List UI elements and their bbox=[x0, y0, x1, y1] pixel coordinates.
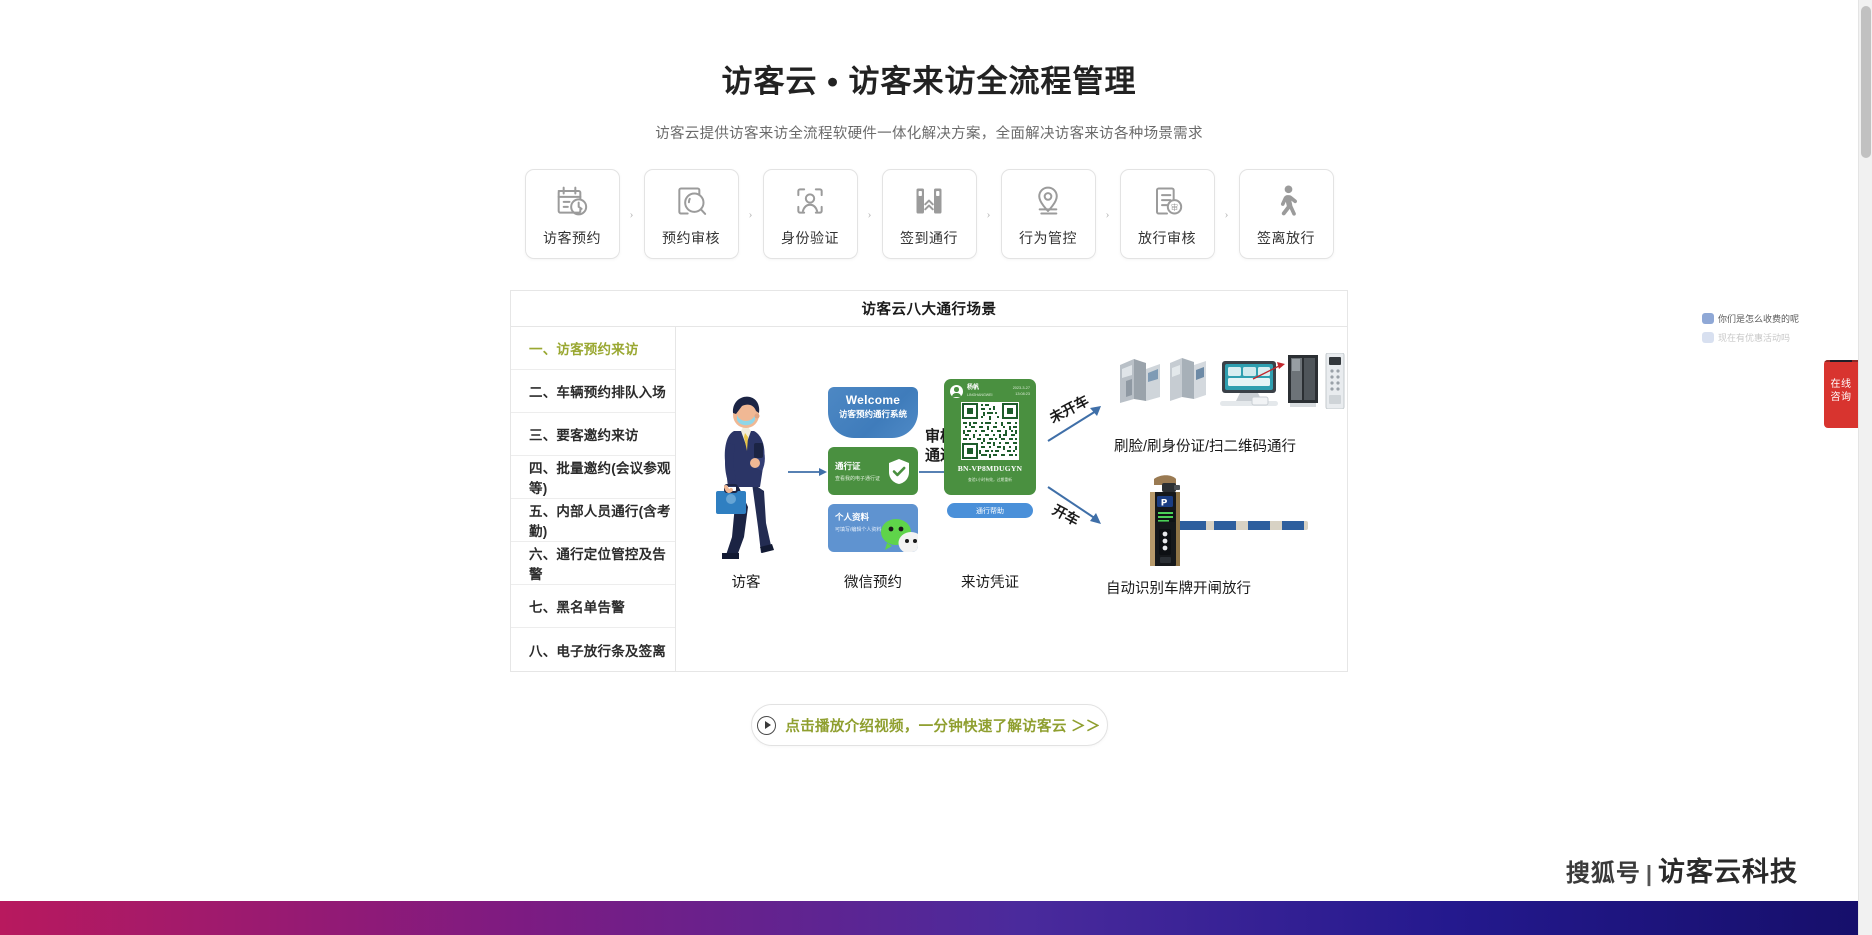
chat-bubble-2-text: 现在有优惠活动吗 bbox=[1718, 331, 1790, 344]
panel-body: 一、访客预约来访 二、车辆预约排队入场 三、要客邀约来访 四、批量邀约(会议参观… bbox=[511, 327, 1347, 671]
process-step-strip: 访客预约 › 预约审核 › 身份验 bbox=[0, 169, 1858, 259]
svg-text:P: P bbox=[1161, 499, 1168, 509]
walking-person-icon bbox=[1266, 181, 1306, 221]
bottom-gradient-bar bbox=[0, 901, 1858, 935]
play-icon bbox=[757, 716, 776, 735]
chat-bubbles: 你们是怎么收费的呢 现在有优惠活动吗 bbox=[1702, 312, 1832, 350]
scene-item-7[interactable]: 七、黑名单告警 bbox=[511, 585, 675, 628]
qr-time: 13:08:23 bbox=[1013, 391, 1030, 397]
step-label: 放行审核 bbox=[1138, 228, 1196, 248]
chat-bubble-icon bbox=[1702, 332, 1714, 343]
step-separator: › bbox=[977, 207, 1001, 222]
turnstile-gate-icon bbox=[909, 181, 949, 221]
credential-caption: 来访凭证 bbox=[940, 571, 1040, 592]
barrier-caption: 自动识别车牌开闸放行 bbox=[1106, 577, 1251, 598]
consult-line-1: 在线 bbox=[1824, 378, 1858, 391]
step-label: 行为管控 bbox=[1019, 228, 1077, 248]
chat-bubble-1-text: 你们是怎么收费的呢 bbox=[1718, 312, 1799, 325]
arrow-visitor-to-wechat bbox=[788, 467, 828, 477]
panel-title: 访客云八大通行场景 bbox=[511, 291, 1347, 327]
magnifier-review-icon bbox=[671, 181, 711, 221]
step-card-behavior-control[interactable]: 行为管控 bbox=[1001, 169, 1096, 259]
wechat-logo-icon bbox=[879, 516, 918, 552]
scene-item-6[interactable]: 六、通行定位管控及告警 bbox=[511, 542, 675, 585]
step-separator: › bbox=[739, 207, 763, 222]
watermark-name: 访客云科技 bbox=[1658, 850, 1798, 889]
visitor-illustration bbox=[704, 387, 788, 563]
step-card-release-review[interactable]: 审 放行审核 bbox=[1120, 169, 1215, 259]
visitor-caption: 访客 bbox=[696, 571, 796, 592]
chat-bubble-1[interactable]: 你们是怎么收费的呢 bbox=[1702, 312, 1832, 325]
scene-item-4[interactable]: 四、批量邀约(会议参观等) bbox=[511, 456, 675, 499]
page-scrollbar[interactable] bbox=[1858, 0, 1872, 935]
video-cta-wrap: 点击播放介绍视频，一分钟快速了解访客云 ＞＞ bbox=[0, 704, 1858, 746]
scene-item-3[interactable]: 三、要客邀约来访 bbox=[511, 413, 675, 456]
watermark-prefix: 搜狐号 bbox=[1566, 853, 1641, 888]
pointer-line bbox=[1251, 361, 1287, 386]
elevator-panel-device-icon bbox=[1324, 353, 1346, 414]
chat-bubble-icon bbox=[1702, 313, 1714, 324]
pass-subtitle: 查看我的电子通行证 bbox=[835, 475, 880, 482]
play-intro-video-button[interactable]: 点击播放介绍视频，一分钟快速了解访客云 ＞＞ bbox=[751, 704, 1108, 746]
qr-pass-tip: 查验1小时有效，过期重新 bbox=[950, 478, 1030, 483]
step-label: 签离放行 bbox=[1257, 228, 1315, 248]
avatar bbox=[950, 385, 963, 398]
turnstile-device-2-icon bbox=[1168, 351, 1210, 414]
scenes-panel: 访客云八大通行场景 一、访客预约来访 二、车辆预约排队入场 三、要客邀约来访 四… bbox=[510, 290, 1348, 672]
pass-title: 通行证 bbox=[835, 460, 880, 472]
arrow-branch-car bbox=[1046, 481, 1108, 534]
qr-pass-code: BN-VP8MDUGYN bbox=[950, 464, 1030, 473]
scene-item-8[interactable]: 八、电子放行条及签离 bbox=[511, 628, 675, 671]
welcome-cn: 访客预约通行系统 bbox=[828, 408, 918, 420]
chat-bubble-2[interactable]: 现在有优惠活动吗 bbox=[1702, 331, 1832, 344]
document-stamp-icon: 审 bbox=[1147, 181, 1187, 221]
page-title: 访客云 • 访客来访全流程管理 bbox=[0, 56, 1858, 101]
step-separator: › bbox=[1215, 207, 1239, 222]
step-card-checkin-pass[interactable]: 签到通行 bbox=[882, 169, 977, 259]
step-card-identity-verify[interactable]: 身份验证 bbox=[763, 169, 858, 259]
qr-code-image bbox=[961, 402, 1019, 460]
welcome-en: Welcome bbox=[828, 393, 918, 407]
step-card-signout-release[interactable]: 签离放行 bbox=[1239, 169, 1334, 259]
step-label: 身份验证 bbox=[781, 228, 839, 248]
visitor-qr-pass-card: 杨帆 LINGHANGWEI 2023-3-27 13:08:23 bbox=[944, 379, 1036, 495]
scene-item-1[interactable]: 一、访客预约来访 bbox=[511, 327, 675, 370]
scene-list: 一、访客预约来访 二、车辆预约排队入场 三、要客邀约来访 四、批量邀约(会议参观… bbox=[511, 327, 676, 671]
wechat-pass-card: 通行证 查看我的电子通行证 bbox=[828, 447, 918, 495]
consult-line-2: 咨询 bbox=[1824, 391, 1858, 404]
step-card-booking-review[interactable]: 预约审核 bbox=[644, 169, 739, 259]
watermark-separator: | bbox=[1646, 861, 1653, 887]
face-id-frame-icon bbox=[790, 181, 830, 221]
page-root: 访客云 • 访客来访全流程管理 访客云提供访客来访全流程软硬件一体化解决方案，全… bbox=[0, 0, 1858, 935]
step-card-visitor-booking[interactable]: 访客预约 bbox=[525, 169, 620, 259]
page-subtitle: 访客云提供访客来访全流程软硬件一体化解决方案，全面解决访客来访各种场景需求 bbox=[0, 122, 1858, 143]
online-consult-button[interactable]: 在线 咨询 bbox=[1824, 360, 1858, 428]
wechat-welcome-card: Welcome 访客预约通行系统 bbox=[828, 387, 918, 438]
sohu-watermark: 搜狐号 | 访客云科技 bbox=[1566, 850, 1798, 889]
location-pin-icon bbox=[1028, 181, 1068, 221]
step-label: 访客预约 bbox=[543, 228, 601, 248]
license-plate-barrier-device: P bbox=[1128, 465, 1314, 576]
scene-diagram: 访客 Welcome 访客预约通行系统 bbox=[676, 327, 1347, 671]
calendar-clock-icon bbox=[552, 181, 592, 221]
scene-item-5[interactable]: 五、内部人员通行(含考勤) bbox=[511, 499, 675, 542]
elevator-device-icon bbox=[1286, 353, 1320, 414]
svg-text:审: 审 bbox=[1171, 201, 1179, 211]
shield-check-icon bbox=[887, 458, 911, 485]
arrow-branch-no-car bbox=[1046, 401, 1108, 450]
agent-avatar bbox=[1824, 360, 1858, 362]
step-separator: › bbox=[620, 207, 644, 222]
turnstile-device-icon bbox=[1116, 351, 1164, 414]
step-separator: › bbox=[858, 207, 882, 222]
scene-item-2[interactable]: 二、车辆预约排队入场 bbox=[511, 370, 675, 413]
wechat-caption: 微信预约 bbox=[823, 571, 923, 592]
step-label: 预约审核 bbox=[662, 228, 720, 248]
qr-visitor-org: LINGHANGWEI bbox=[967, 392, 993, 398]
cta-label: 点击播放介绍视频，一分钟快速了解访客云 ＞＞ bbox=[785, 715, 1100, 736]
wechat-profile-card: 个人资料 可填写/编辑个人资料 bbox=[828, 504, 918, 552]
scrollbar-thumb[interactable] bbox=[1861, 6, 1871, 158]
qr-visitor-name: 杨帆 bbox=[967, 385, 993, 392]
wechat-booking-cards: Welcome 访客预约通行系统 通行证 查看我的电子通行证 bbox=[828, 387, 918, 561]
pass-help-button[interactable]: 通行帮助 bbox=[947, 503, 1033, 518]
pass-methods-caption: 刷脸/刷身份证/扫二维码通行 bbox=[1114, 435, 1296, 456]
step-separator: › bbox=[1096, 207, 1120, 222]
step-label: 签到通行 bbox=[900, 228, 958, 248]
pass-device-group bbox=[1116, 351, 1350, 414]
